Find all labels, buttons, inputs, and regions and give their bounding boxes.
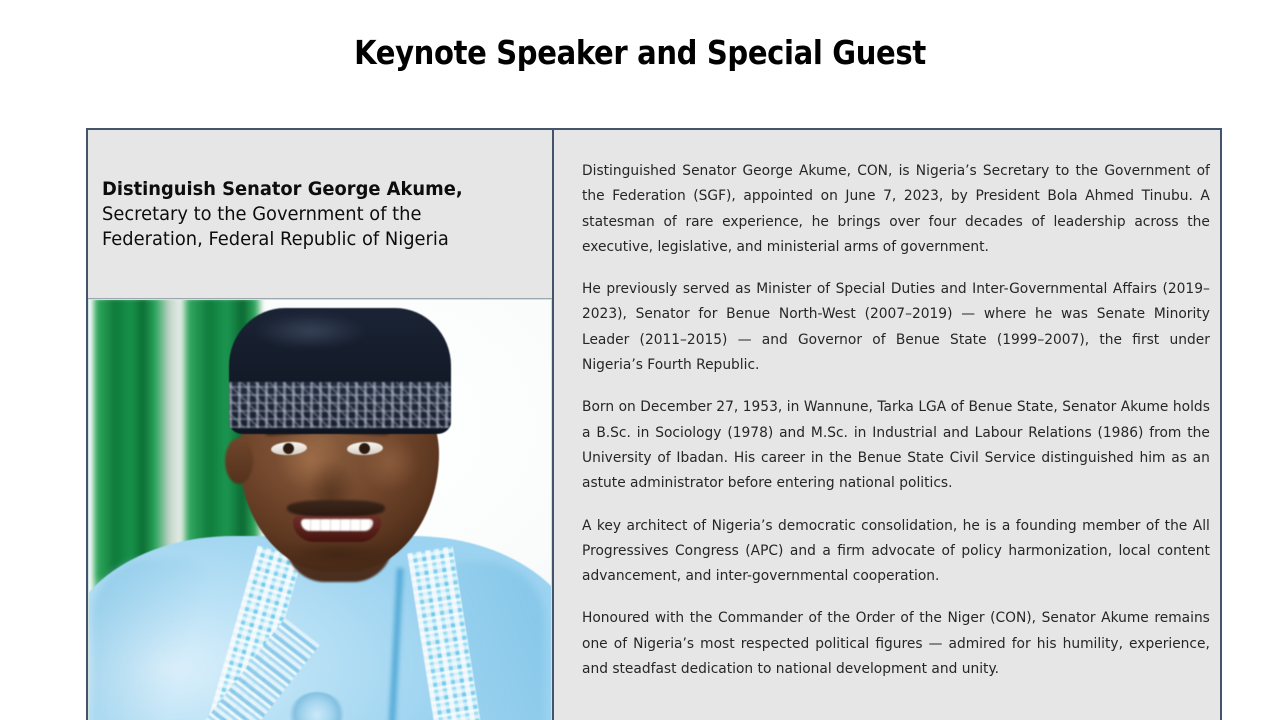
speaker-name: Distinguish Senator George Akume, <box>102 177 512 202</box>
mouth <box>293 516 381 542</box>
garment-shadow-left <box>91 558 211 720</box>
speaker-role-line-2: Federation, Federal Republic of Nigeria <box>102 227 512 252</box>
page-title: Keynote Speaker and Special Guest <box>77 33 1203 72</box>
speaker-caption-cell: Distinguish Senator George Akume, Secret… <box>88 130 552 298</box>
speaker-role-line-1: Secretary to the Government of the <box>102 202 512 227</box>
bio-paragraph: Honoured with the Commander of the Order… <box>582 605 1210 681</box>
teeth <box>301 519 373 531</box>
speaker-portrait-image <box>89 300 551 720</box>
profile-right-column: Distinguished Senator George Akume, CON,… <box>554 130 1220 720</box>
profile-table: Distinguish Senator George Akume, Secret… <box>86 128 1222 720</box>
cap-highlight <box>255 314 365 348</box>
bio-paragraph: He previously served as Minister of Spec… <box>582 276 1210 377</box>
bio-paragraph: Distinguished Senator George Akume, CON,… <box>582 158 1210 259</box>
traditional-cap <box>229 308 451 434</box>
slide: Keynote Speaker and Special Guest Distin… <box>0 0 1280 720</box>
nose <box>307 460 355 504</box>
speaker-photo-cell <box>88 299 552 720</box>
chin-shadow <box>285 540 389 566</box>
bio-paragraph: A key architect of Nigeria’s democratic … <box>582 513 1210 589</box>
cap-patterned-band <box>229 382 451 428</box>
ear <box>225 438 253 484</box>
portrait-figure <box>89 300 551 720</box>
profile-left-column: Distinguish Senator George Akume, Secret… <box>88 130 552 720</box>
bio-paragraph: Born on December 27, 1953, in Wannune, T… <box>582 394 1210 495</box>
